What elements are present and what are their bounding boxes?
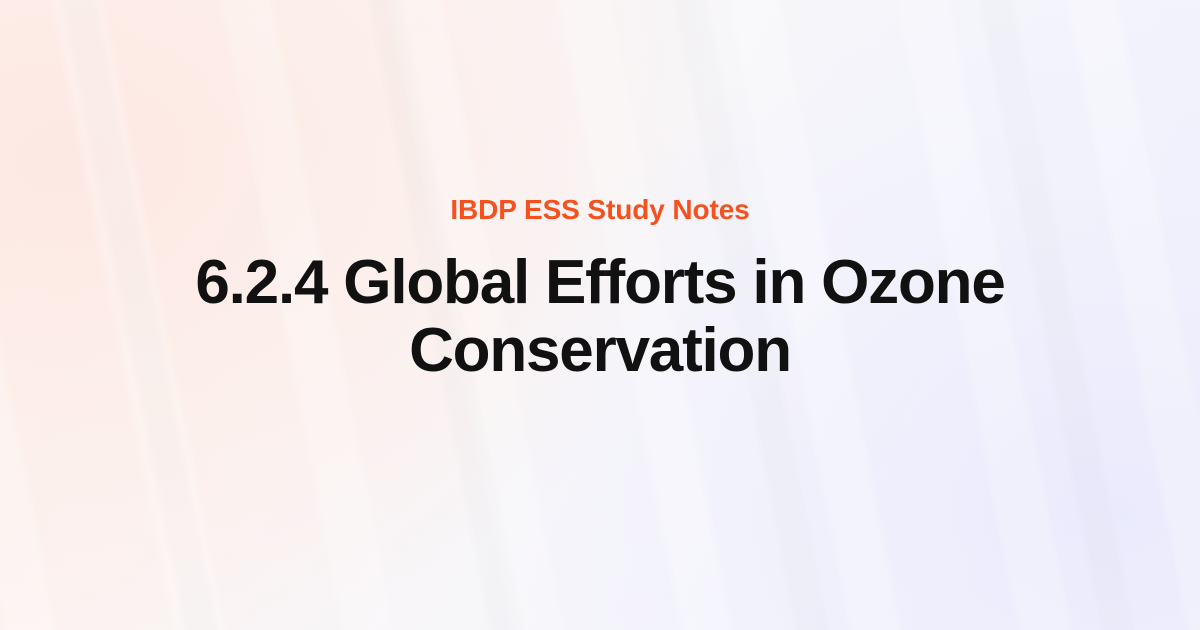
eyebrow-label: IBDP ESS Study Notes xyxy=(450,193,749,227)
og-hero-card: IBDP ESS Study Notes 6.2.4 Global Effort… xyxy=(0,0,1200,630)
page-title: 6.2.4 Global Efforts in Ozone Conservati… xyxy=(185,249,1015,385)
hero-content: IBDP ESS Study Notes 6.2.4 Global Effort… xyxy=(0,0,1200,630)
